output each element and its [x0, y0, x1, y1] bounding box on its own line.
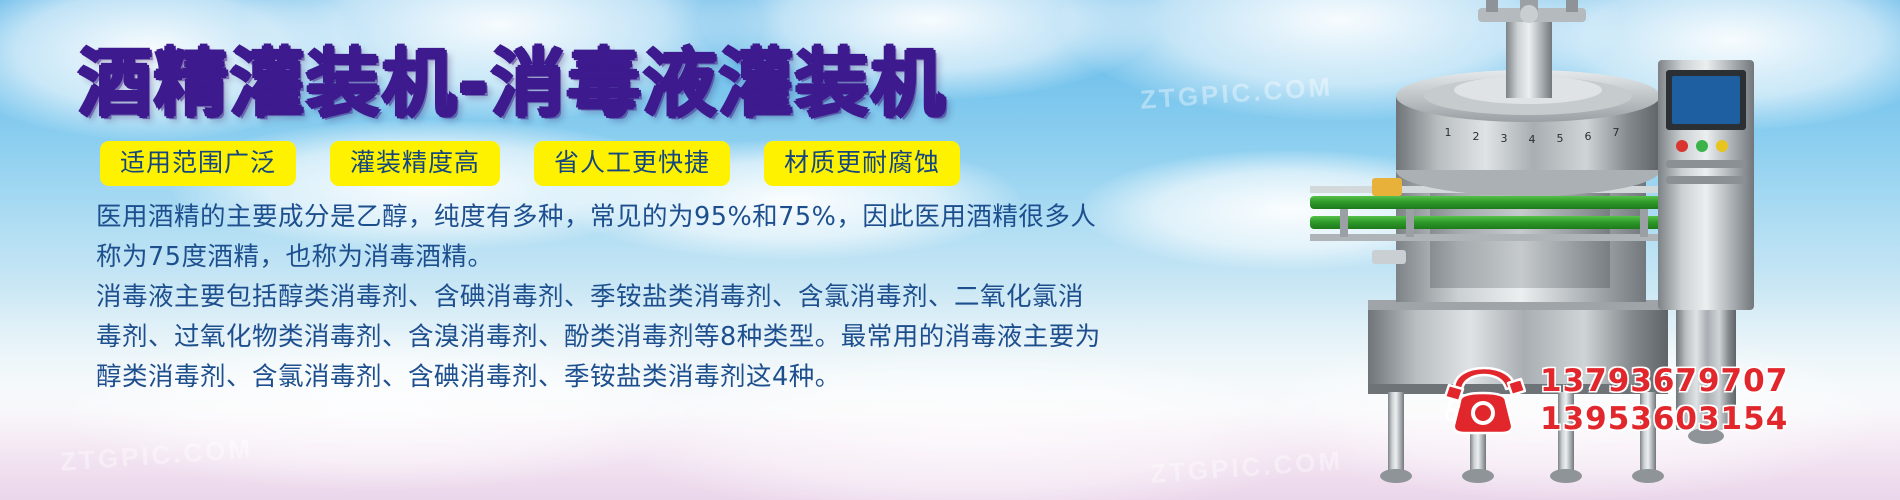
feature-badge-list: 适用范围广泛 灌装精度高 省人工更快捷 材质更耐腐蚀 [100, 141, 960, 186]
svg-text:5: 5 [1557, 132, 1564, 145]
svg-text:1: 1 [1445, 126, 1452, 139]
contact-block: 13793679707 13953603154 [1440, 362, 1788, 438]
svg-text:4: 4 [1529, 133, 1536, 146]
svg-text:3: 3 [1501, 132, 1508, 145]
svg-text:7: 7 [1613, 126, 1620, 139]
svg-text:6: 6 [1585, 130, 1592, 143]
promo-banner: 酒精灌装机-消毒液灌装机 适用范围广泛 灌装精度高 省人工更快捷 材质更耐腐蚀 … [0, 0, 1900, 500]
description-copy: 医用酒精的主要成分是乙醇，纯度有多种，常见的为95%和75%，因此医用酒精很多人… [96, 197, 1106, 397]
feature-badge-4: 材质更耐腐蚀 [764, 141, 960, 186]
feature-badge-2: 灌装精度高 [330, 141, 500, 186]
telephone-icon [1440, 363, 1526, 437]
svg-text:2: 2 [1473, 130, 1480, 143]
phone-number-secondary: 13953603154 [1540, 400, 1788, 438]
phone-number-list: 13793679707 13953603154 [1540, 362, 1788, 438]
phone-number-primary: 13793679707 [1540, 362, 1788, 400]
feature-badge-3: 省人工更快捷 [534, 141, 730, 186]
description-paragraph-1: 医用酒精的主要成分是乙醇，纯度有多种，常见的为95%和75%，因此医用酒精很多人… [96, 197, 1106, 277]
feature-badge-1: 适用范围广泛 [100, 141, 296, 186]
watermark: ZTGPIC.COM [59, 433, 254, 477]
watermark: ZTGPIC.COM [1139, 71, 1334, 115]
description-paragraph-2: 消毒液主要包括醇类消毒剂、含碘消毒剂、季铵盐类消毒剂、含氯消毒剂、二氧化氯消毒剂… [96, 277, 1106, 397]
page-title: 酒精灌装机-消毒液灌装机 [78, 44, 947, 124]
